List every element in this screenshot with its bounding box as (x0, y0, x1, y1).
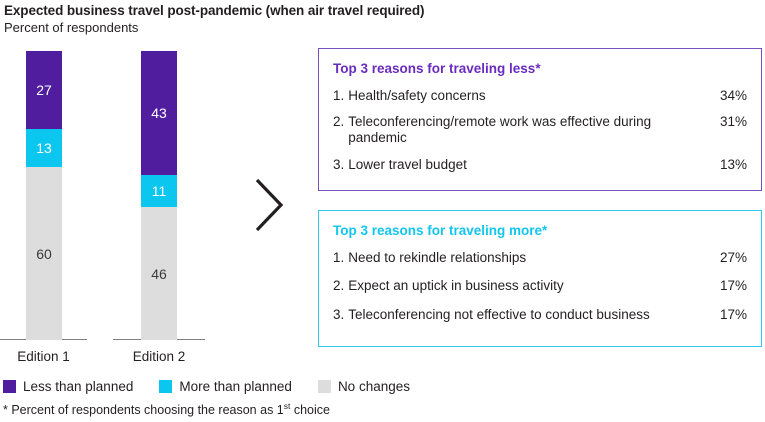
callout-more-title: Top 3 reasons for traveling more* (333, 223, 747, 239)
legend-label: More than planned (179, 379, 292, 394)
bar-segment-less-edition-1[interactable]: 27 (26, 51, 62, 129)
callout-less-title: Top 3 reasons for traveling less* (333, 61, 747, 77)
reason-percent: 17% (720, 278, 747, 294)
reason-number: 3. (333, 307, 348, 323)
stacked-bar-chart: 27 13 60 Edition 1 43 11 46 Edition 2 (0, 0, 240, 370)
bar-segment-none-edition-1[interactable]: 60 (26, 167, 62, 340)
reason-number: 1. (333, 250, 348, 266)
legend-label: Less than planned (23, 379, 133, 394)
legend-swatch-icon (3, 380, 16, 393)
reason-percent: 17% (720, 307, 747, 323)
legend-swatch-icon (159, 380, 172, 393)
reason-text: Health/safety concerns (348, 88, 720, 104)
footnote-suffix: choice (290, 403, 330, 417)
bar-stack-edition-2: 43 11 46 (141, 51, 177, 340)
bar-value-label: 27 (26, 83, 62, 97)
legend-item-more-than-planned[interactable]: More than planned (159, 379, 292, 394)
bar-segment-none-edition-2[interactable]: 46 (141, 207, 177, 340)
legend-item-no-changes[interactable]: No changes (318, 379, 410, 394)
bar-stack-edition-1: 27 13 60 (26, 51, 62, 340)
bar-value-label: 13 (26, 141, 62, 155)
reason-text: Teleconferencing not effective to conduc… (348, 307, 720, 323)
chevron-right-icon (250, 176, 290, 236)
list-item: 1. Health/safety concerns 34% (333, 88, 747, 104)
list-item: 2. Expect an uptick in business activity… (333, 278, 747, 294)
bar-segment-more-edition-1[interactable]: 13 (26, 129, 62, 167)
list-item: 1. Need to rekindle relationships 27% (333, 250, 747, 266)
list-item: 2. Teleconferencing/remote work was effe… (333, 114, 747, 146)
reason-text: Expect an uptick in business activity (348, 278, 720, 294)
reason-percent: 34% (720, 88, 747, 104)
reason-percent: 13% (720, 157, 747, 173)
legend-item-less-than-planned[interactable]: Less than planned (3, 379, 133, 394)
reason-text: Need to rekindle relationships (348, 250, 720, 266)
callout-traveling-more: Top 3 reasons for traveling more* 1. Nee… (318, 210, 762, 347)
bar-value-label: 11 (141, 184, 177, 198)
list-item: 3. Teleconferencing not effective to con… (333, 307, 747, 323)
reason-number: 3. (333, 157, 348, 173)
reason-number: 2. (333, 278, 348, 294)
footnote: * Percent of respondents choosing the re… (3, 403, 330, 417)
reason-percent: 31% (720, 114, 747, 130)
reason-percent: 27% (720, 250, 747, 266)
bar-segment-more-edition-2[interactable]: 11 (141, 175, 177, 207)
legend-label: No changes (338, 379, 410, 394)
bar-value-label: 43 (141, 106, 177, 120)
bar-value-label: 60 (26, 247, 62, 261)
legend-swatch-icon (318, 380, 331, 393)
bar-value-label: 46 (141, 267, 177, 281)
bar-segment-less-edition-2[interactable]: 43 (141, 51, 177, 175)
reason-text: Lower travel budget (348, 157, 720, 173)
axis-label-edition-1: Edition 1 (0, 349, 87, 364)
chart-legend: Less than planned More than planned No c… (3, 379, 436, 394)
reason-number: 1. (333, 88, 348, 104)
callout-traveling-less: Top 3 reasons for traveling less* 1. Hea… (318, 48, 762, 191)
list-item: 3. Lower travel budget 13% (333, 157, 747, 173)
axis-label-edition-2: Edition 2 (113, 349, 205, 364)
reason-text: Teleconferencing/remote work was effecti… (348, 114, 720, 146)
footnote-prefix: * Percent of respondents choosing the re… (3, 403, 284, 417)
reason-number: 2. (333, 114, 348, 130)
